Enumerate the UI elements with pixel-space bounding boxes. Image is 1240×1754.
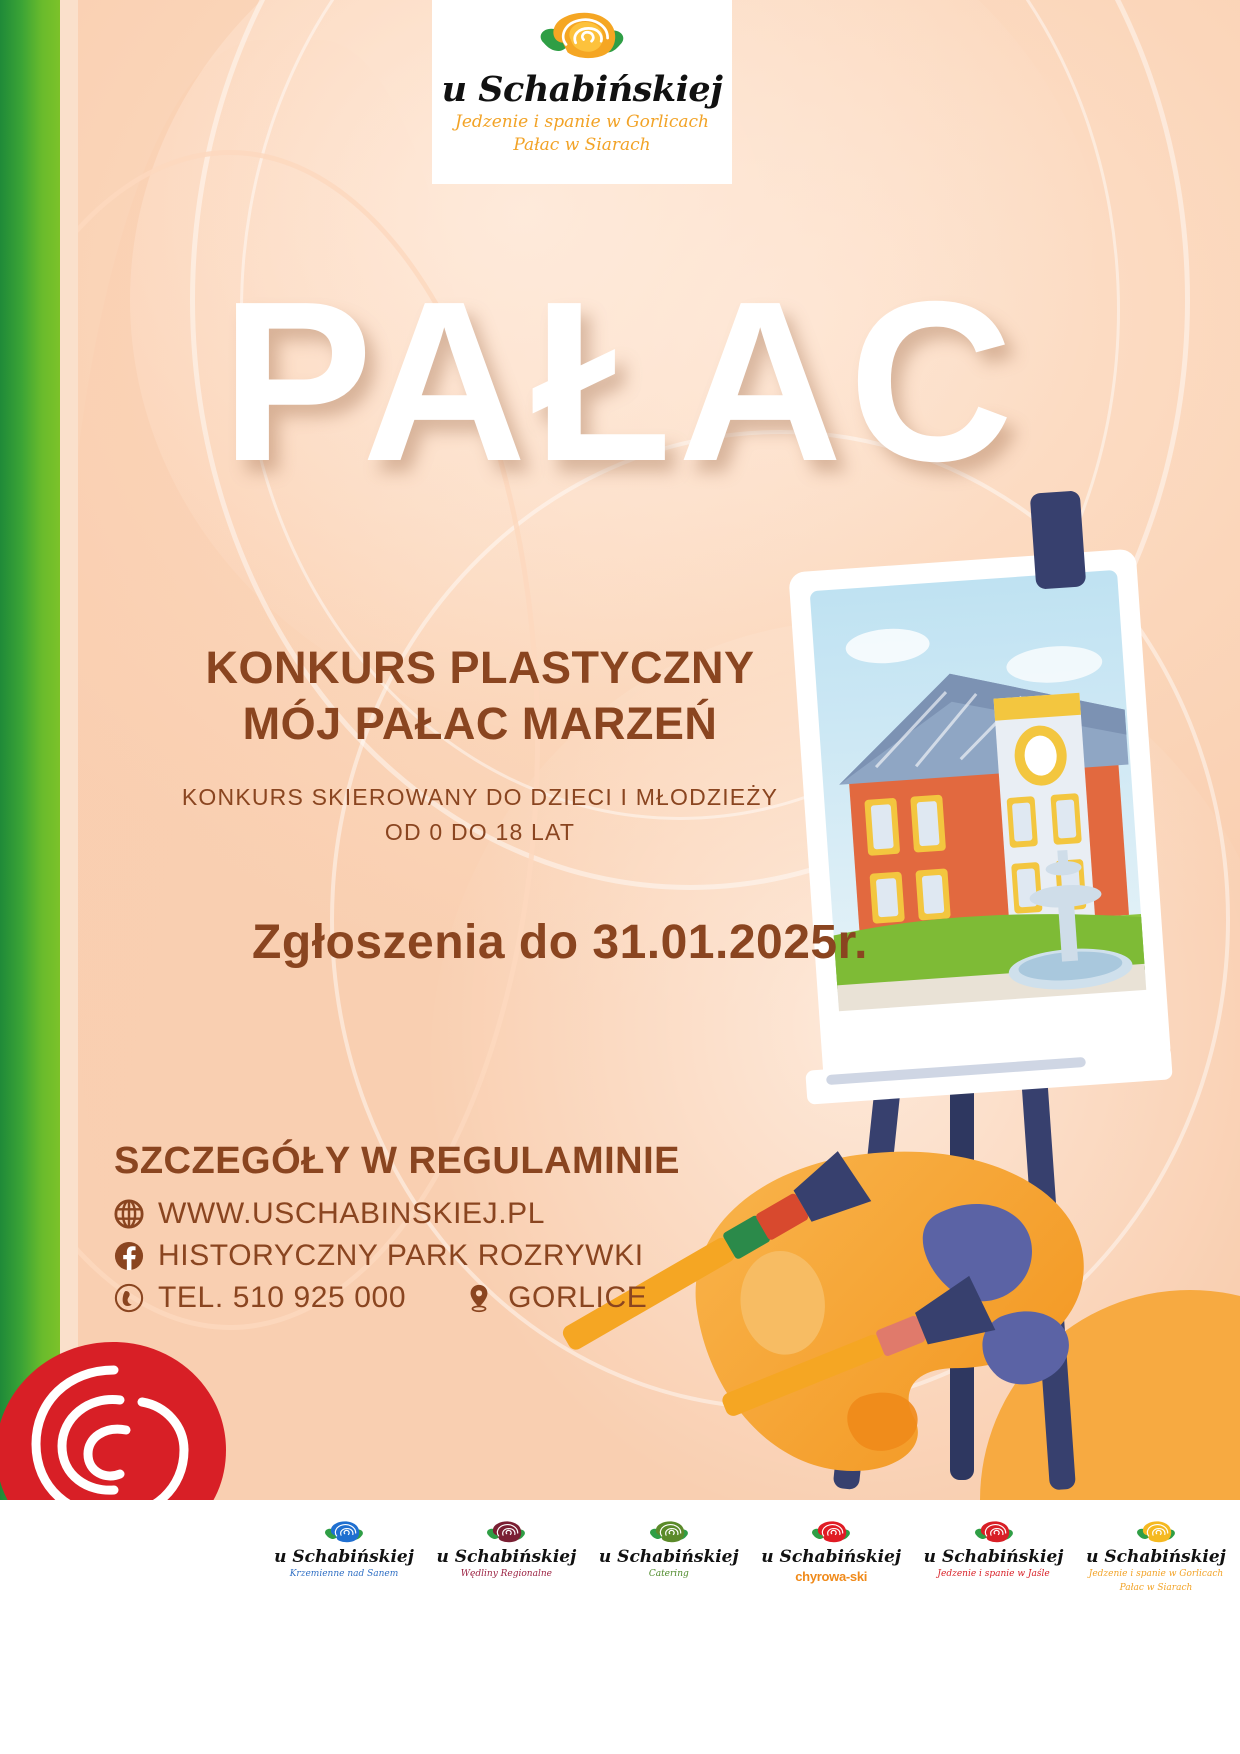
brand-logo-tagline-1: Jedzenie i spanie w Gorlicach bbox=[455, 113, 709, 132]
contact-row-website[interactable]: WWW.USCHABINSKIEJ.PL bbox=[114, 1197, 774, 1231]
red-rose-icon bbox=[972, 1518, 1016, 1548]
facebook-icon bbox=[114, 1241, 144, 1271]
contest-headline-line-1: KONKURS PLASTYCZNY bbox=[80, 640, 880, 696]
map-pin-icon bbox=[464, 1283, 494, 1313]
contact-phone: TEL. 510 925 000 bbox=[158, 1281, 406, 1315]
partner-logo-0[interactable]: u Schabińskiej Krzemienne nad Sanem bbox=[268, 1518, 420, 1580]
contest-headline: KONKURS PLASTYCZNY MÓJ PAŁAC MARZEŃ bbox=[80, 640, 880, 752]
green-rose-icon bbox=[647, 1518, 691, 1548]
phone-icon bbox=[114, 1283, 144, 1313]
deadline-text: Zgłoszenia do 31.01.2025r. bbox=[60, 915, 1060, 970]
left-green-stripe bbox=[0, 0, 60, 1500]
globe-icon bbox=[114, 1199, 144, 1229]
brand-logo-card: u Schabińskiej Jedzenie i spanie w Gorli… bbox=[432, 0, 732, 184]
partner-logo-5[interactable]: u Schabińskiej Jedzenie i spanie w Gorli… bbox=[1080, 1518, 1232, 1595]
partner-tagline: Jedzenie i spanie w Gorlicach bbox=[1080, 1569, 1232, 1580]
contact-row-facebook[interactable]: HISTORYCZNY PARK ROZRYWKI bbox=[114, 1239, 774, 1273]
partner-name: u Schabińskiej bbox=[1080, 1549, 1232, 1566]
partner-tagline-2: Pałac w Siarach bbox=[1080, 1583, 1232, 1594]
partner-name: u Schabińskiej bbox=[593, 1549, 745, 1566]
contact-facebook: HISTORYCZNY PARK ROZRYWKI bbox=[158, 1239, 644, 1273]
yellow-rose-icon bbox=[1134, 1518, 1178, 1548]
contest-subcopy-line-1: KONKURS SKIEROWANY DO DZIECI I MŁODZIEŻY bbox=[80, 780, 880, 815]
contest-headline-line-2: MÓJ PAŁAC MARZEŃ bbox=[80, 696, 880, 752]
brand-logo-tagline-2: Pałac w Siarach bbox=[513, 136, 650, 155]
partner-tagline: chyrowa-ski bbox=[755, 1569, 907, 1585]
yellow-rose-icon bbox=[534, 6, 630, 70]
red-rose-icon bbox=[809, 1518, 853, 1548]
contact-website: WWW.USCHABINSKIEJ.PL bbox=[158, 1197, 545, 1231]
partner-logo-2[interactable]: u Schabińskiej Catering bbox=[593, 1518, 745, 1580]
partner-logo-4[interactable]: u Schabińskiej Jedzenie i spanie w Jaśle bbox=[918, 1518, 1070, 1580]
partner-tagline: Wędliny Regionalne bbox=[430, 1569, 582, 1580]
contest-subcopy-line-2: OD 0 DO 18 LAT bbox=[80, 815, 880, 850]
partner-name: u Schabińskiej bbox=[918, 1549, 1070, 1566]
left-cream-stripe bbox=[60, 0, 78, 1500]
brand-logo-name: u Schabińskiej bbox=[442, 72, 723, 107]
partner-tagline: Catering bbox=[593, 1569, 745, 1580]
partner-logo-strip: u Schabińskiej Krzemienne nad Sanem u Sc… bbox=[0, 1500, 1240, 1754]
partner-tagline: Jedzenie i spanie w Jaśle bbox=[918, 1569, 1070, 1580]
partner-tagline: Krzemienne nad Sanem bbox=[268, 1569, 420, 1580]
page-title: PAŁAC bbox=[0, 268, 1240, 496]
partner-logo-3[interactable]: u Schabińskiej chyrowa-ski bbox=[755, 1518, 907, 1585]
partner-name: u Schabińskiej bbox=[755, 1549, 907, 1566]
contact-row-phone-location[interactable]: TEL. 510 925 000 GORLICE bbox=[114, 1281, 774, 1315]
contact-location: GORLICE bbox=[508, 1281, 647, 1315]
maroon-rose-icon bbox=[484, 1518, 528, 1548]
partner-logo-1[interactable]: u Schabińskiej Wędliny Regionalne bbox=[430, 1518, 582, 1580]
partner-name: u Schabińskiej bbox=[430, 1549, 582, 1566]
contact-title: SZCZEGÓŁY W REGULAMINIE bbox=[114, 1140, 774, 1183]
contact-block: SZCZEGÓŁY W REGULAMINIE WWW.USCHABINSKIE… bbox=[114, 1140, 774, 1323]
contest-subcopy: KONKURS SKIEROWANY DO DZIECI I MŁODZIEŻY… bbox=[80, 780, 880, 849]
blue-rose-icon bbox=[322, 1518, 366, 1548]
partner-name: u Schabińskiej bbox=[268, 1549, 420, 1566]
poster-root: u Schabińskiej Jedzenie i spanie w Gorli… bbox=[0, 0, 1240, 1754]
